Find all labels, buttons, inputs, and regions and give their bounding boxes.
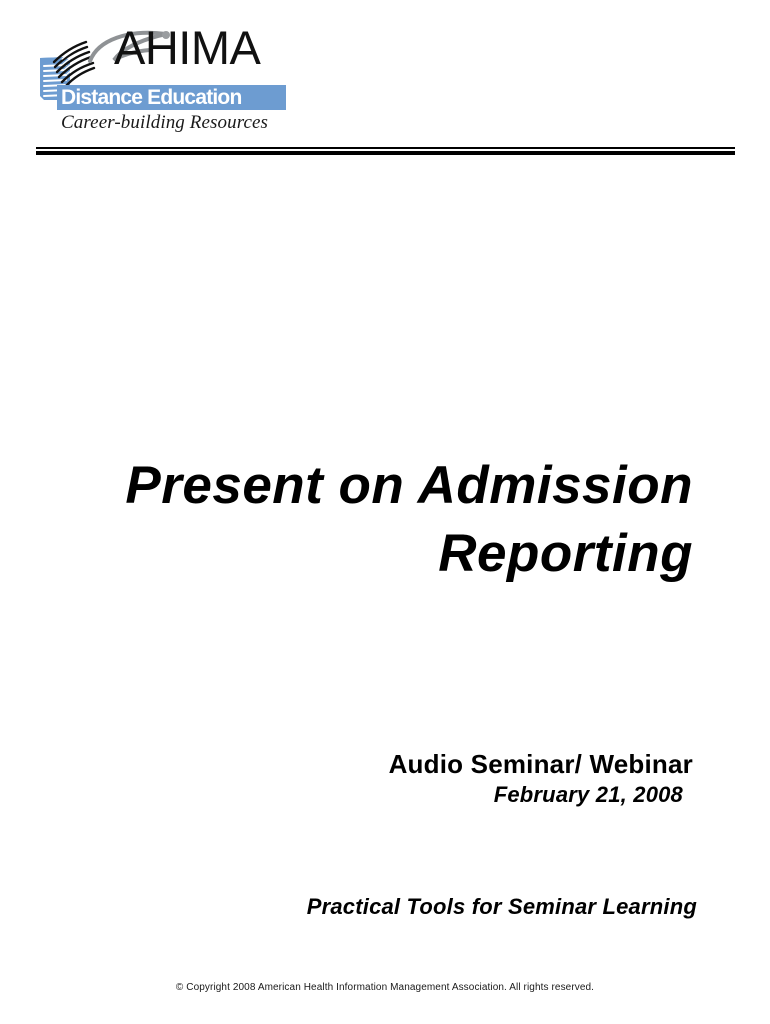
seminar-tagline: Practical Tools for Seminar Learning: [200, 893, 697, 921]
page-title: Present on Admission Reporting: [60, 452, 693, 588]
header-divider: [36, 147, 735, 156]
footer: © Copyright 2008 American Health Informa…: [0, 981, 770, 995]
title-page: AHIMA Distance Education Career-building…: [0, 0, 770, 1024]
distance-education-banner-text: Distance Education: [61, 86, 241, 109]
ahima-distance-education-logo: AHIMA Distance Education Career-building…: [36, 28, 286, 138]
page-title-line-1: Present on Admission: [60, 452, 693, 520]
page-title-line-2: Reporting: [60, 520, 693, 588]
seminar-type: Audio Seminar/ Webinar: [200, 748, 693, 780]
divider-line-bottom: [36, 151, 735, 155]
copyright-notice: © Copyright 2008 American Health Informa…: [0, 981, 770, 995]
distance-education-banner: Distance Education: [57, 85, 286, 110]
seminar-date: February 21, 2008: [200, 780, 693, 810]
seminar-tagline-text: Practical Tools for Seminar Learning: [200, 893, 697, 921]
logo-tagline: Career-building Resources: [61, 112, 268, 134]
ahima-wordmark: AHIMA: [88, 28, 288, 84]
ahima-wordmark-text: AHIMA: [114, 24, 260, 71]
seminar-info: Audio Seminar/ Webinar February 21, 2008: [200, 748, 693, 810]
